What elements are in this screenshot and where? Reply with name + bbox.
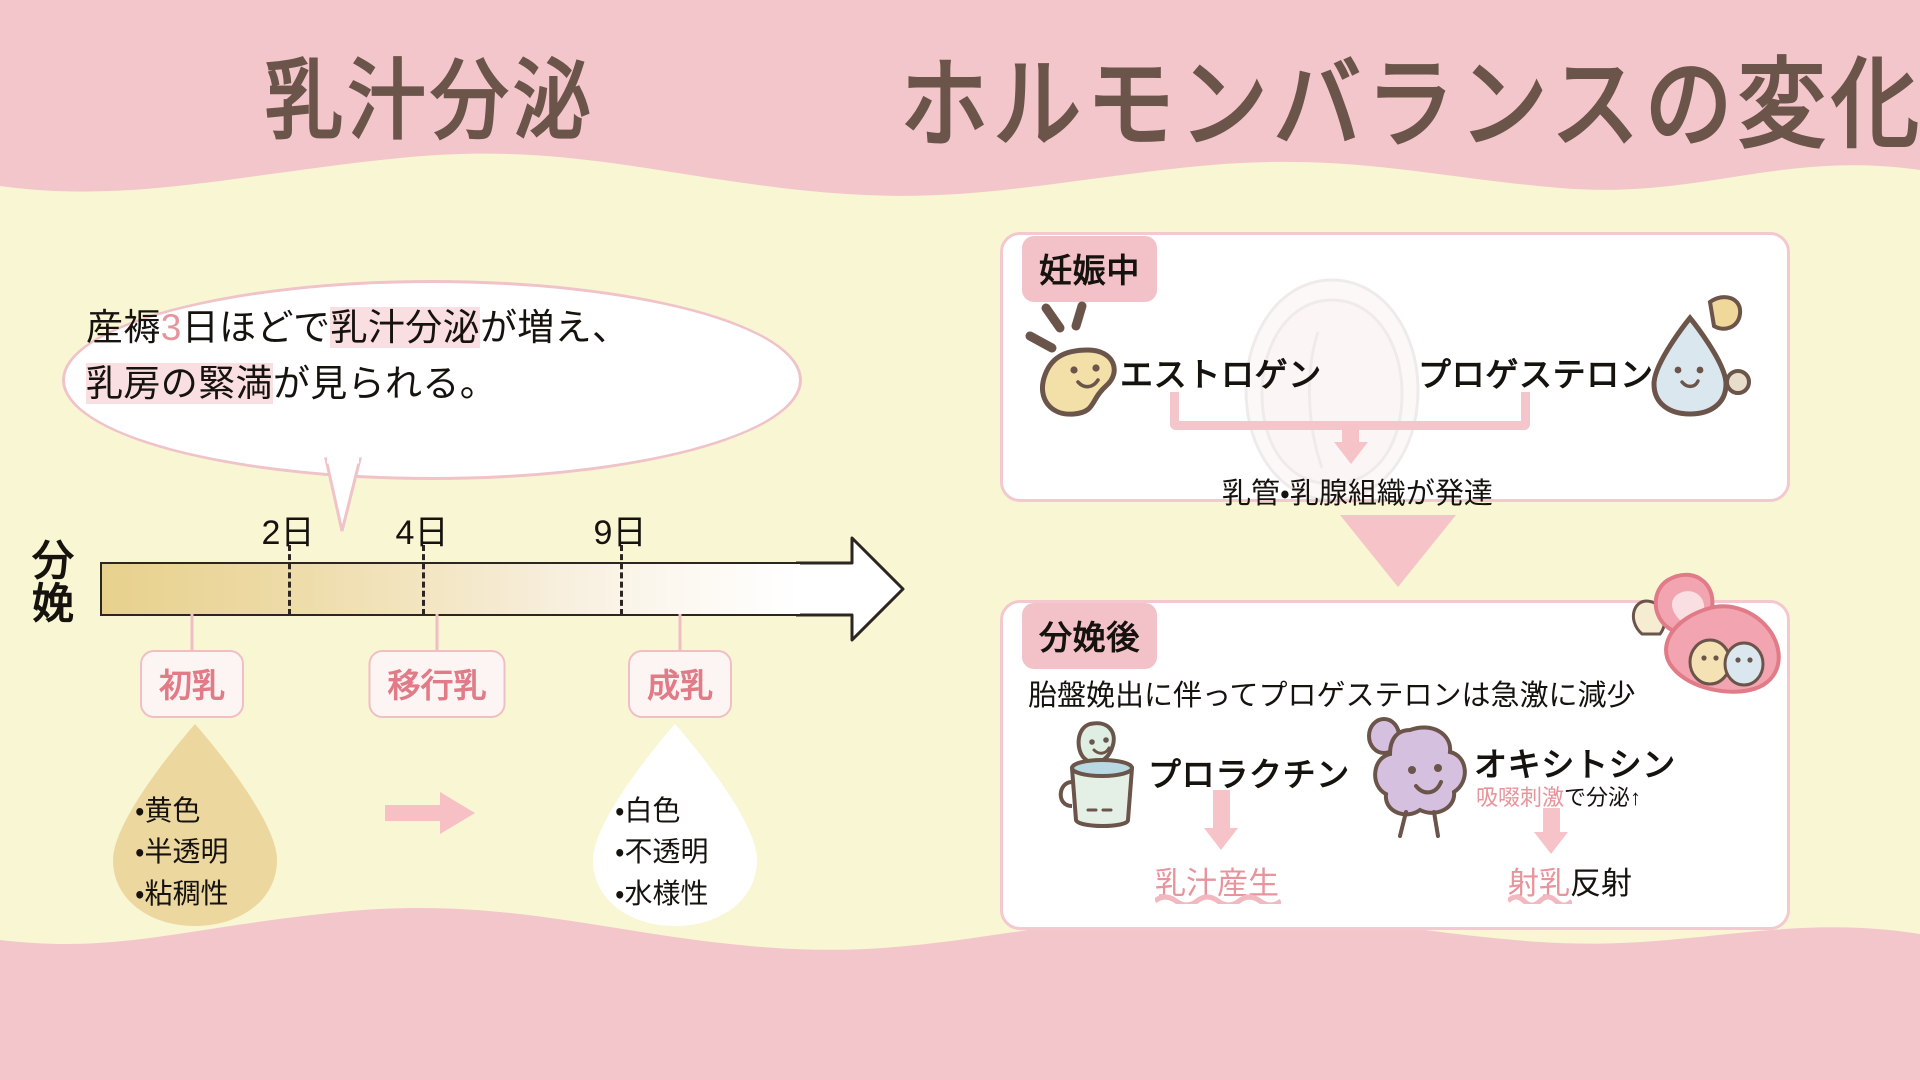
panel-transition-arrow-icon [1340,515,1456,591]
stage-badge-mature[interactable]: 成乳 [628,650,732,718]
oxytocin-note-highlight: 吸啜刺激 [1476,785,1564,810]
cloud-brain-character-icon [1358,714,1478,840]
droplet-property: ・黄色 [135,790,229,831]
timeline-day-label-3: 9日 [594,505,647,554]
bubble-day-number: 3 [161,307,182,348]
droplet-colostrum-properties: ・黄色 ・半透明 ・粘稠性 [135,790,229,914]
wavy-underline-left [1155,893,1281,904]
bubble-highlight-2: 乳房の緊満 [86,363,273,404]
speech-bubble-line-2: 乳房の緊満が見られる。 [86,356,786,412]
bubble-text-b: 日ほどで [182,307,331,348]
prolactin-arrow-stem [1213,790,1230,832]
page-title-right: ホルモンバランスの変化 [900,25,1920,167]
timeline-day-label-1: 2日 [262,505,315,554]
timeline-tick-2 [422,545,425,615]
result-milk-ejection-dark: 反射 [1570,866,1632,901]
hormone-oxytocin-label: オキシトシン [1474,738,1676,786]
timeline-bar [100,562,800,616]
timeline-tick-1 [288,545,291,615]
stage-badge-transitional[interactable]: 移行乳 [369,650,506,718]
timeline-start-label: 分娩 [32,540,88,626]
speech-bubble-line-1: 産褥3日ほどで乳汁分泌が増え、 [86,300,786,356]
hormone-progesterone-label: プロゲステロン [1418,348,1654,396]
timeline-day-label-2: 4日 [396,505,449,554]
droplet-mature-properties: ・白色 ・不透明 ・水様性 [615,790,709,914]
postpartum-lead-text: 胎盤娩出に伴ってプロゲステロンは急激に減少 [1028,672,1636,714]
hormone-prolactin-label: プロラクチン [1148,748,1350,796]
pregnancy-result-text: 乳管・乳腺組織が発達 [1222,470,1493,512]
droplet-character-icon [1638,290,1758,420]
infographic-root: 乳汁分泌 ホルモンバランスの変化 産褥3日ほどで乳汁分泌が増え、 乳房の緊満が見… [0,0,1920,1080]
oxytocin-note-rest: で分泌↑ [1564,785,1641,810]
badge-during-pregnancy: 妊娠中 [1022,236,1157,302]
bubble-text-d: が見られる。 [273,363,497,404]
speech-bubble-tail [320,455,390,535]
prolactin-arrow-head [1204,828,1238,850]
stage-badge-colostrum[interactable]: 初乳 [140,650,244,718]
droplet-property: ・水様性 [615,873,709,914]
breast-anatomy-icon [1612,568,1812,700]
pregnancy-bracket-arrowhead [1334,442,1368,464]
oxytocin-arrow-head [1534,832,1568,854]
bubble-text-a: 産褥 [86,307,161,348]
speech-bubble-text: 産褥3日ほどで乳汁分泌が増え、 乳房の緊満が見られる。 [86,300,786,412]
timeline-arrow-icon [796,536,906,642]
bubble-highlight-1: 乳汁分泌 [330,307,479,348]
droplet-property: ・半透明 [135,831,229,872]
hormone-estrogen-label: エストロゲン [1120,348,1322,396]
badge-after-delivery: 分娩後 [1022,603,1157,669]
droplet-property: ・粘稠性 [135,873,229,914]
droplet-property: ・不透明 [615,831,709,872]
page-title-left: 乳汁分泌 [265,31,596,156]
bubble-text-c: が増え、 [480,307,629,348]
right-arrow-icon [385,790,477,836]
wavy-underline-right [1508,893,1572,904]
droplet-property: ・白色 [615,790,709,831]
timeline-tick-3 [620,545,623,615]
milk-jug-character-icon [1048,716,1156,836]
